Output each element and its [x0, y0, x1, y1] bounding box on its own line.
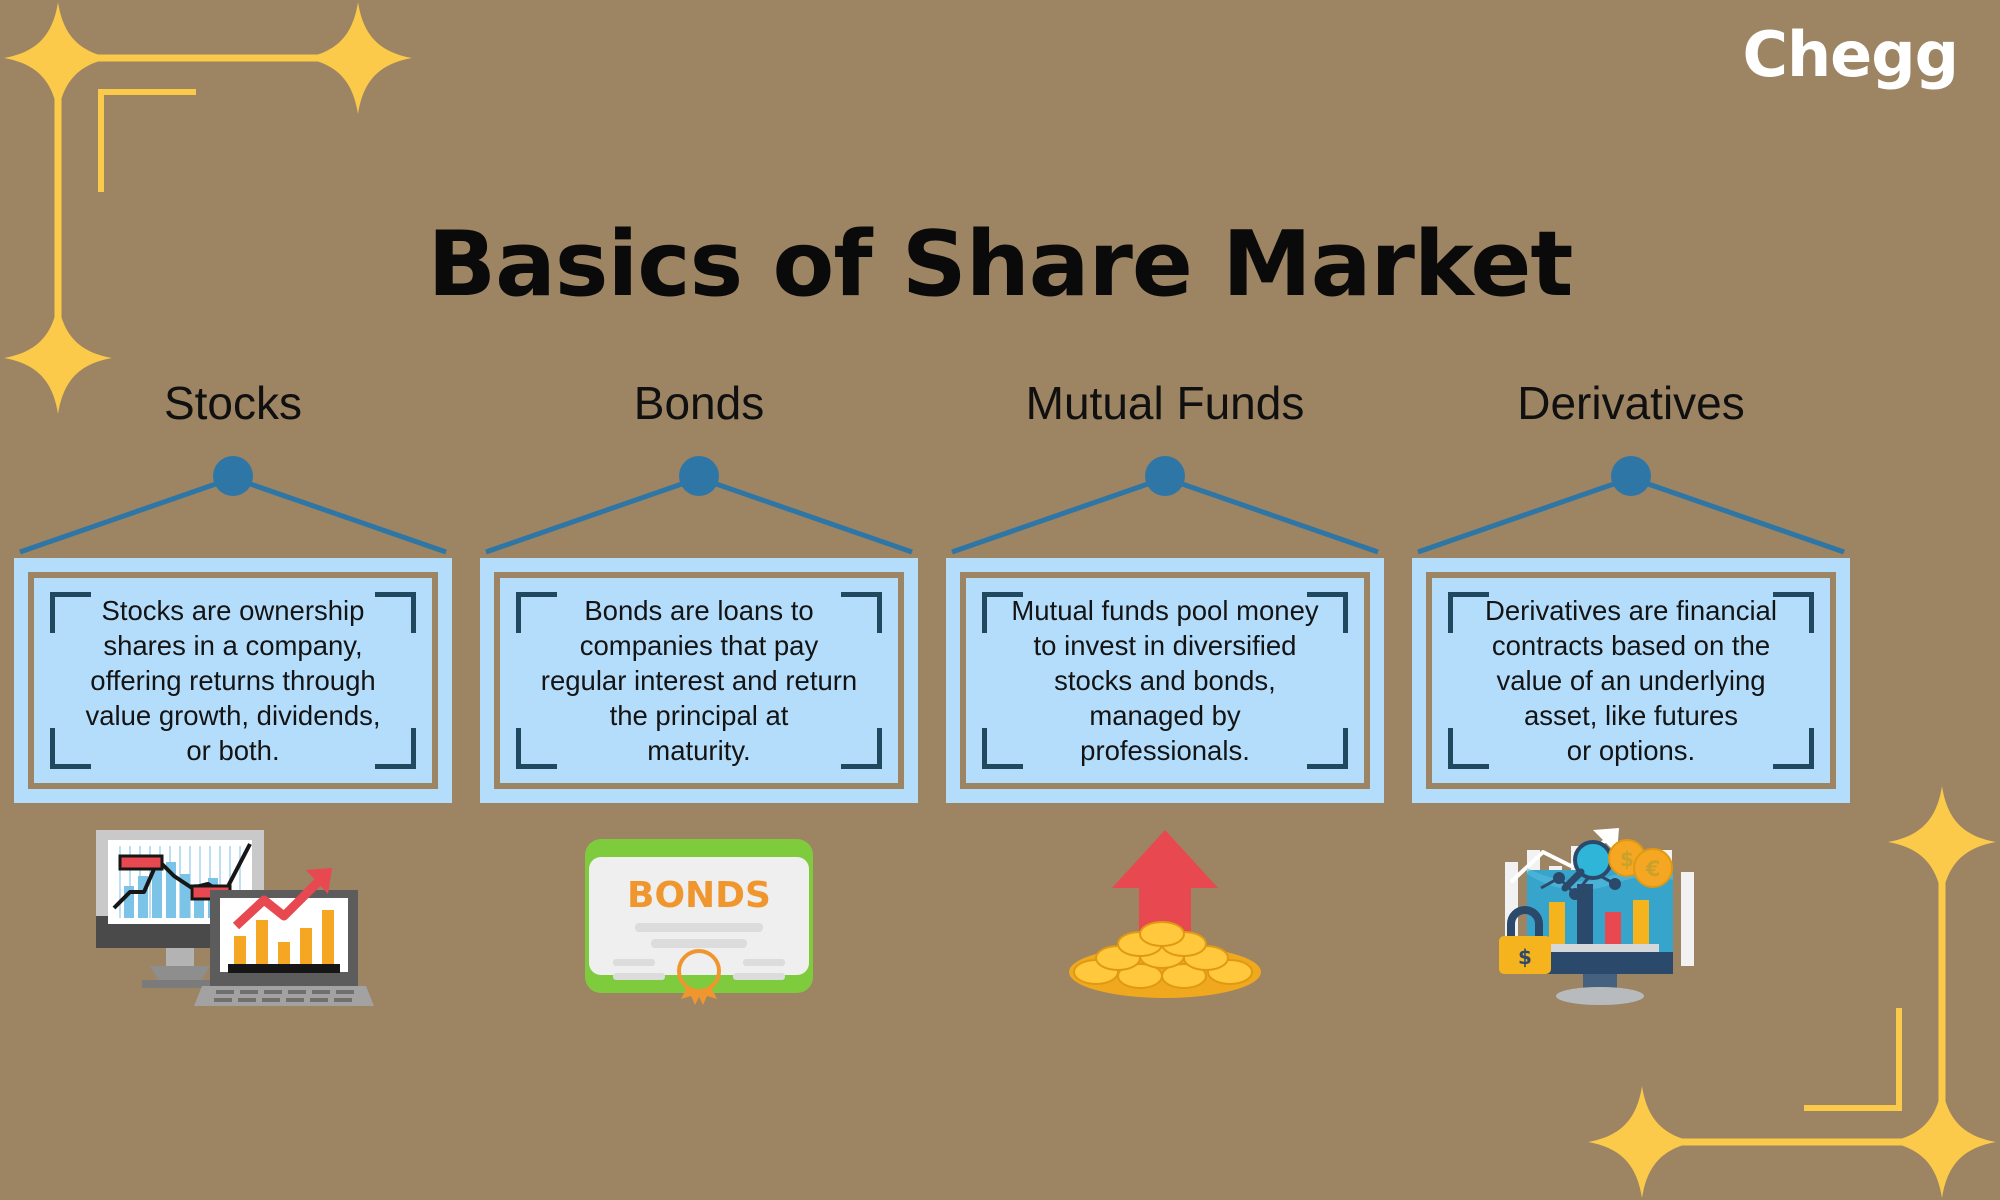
sparkle-icon	[304, 2, 412, 114]
connector-derivatives	[1410, 454, 1852, 559]
connector-stocks	[12, 454, 454, 559]
connector-mutual-funds	[944, 454, 1386, 559]
decor-corner-top-left	[0, 0, 420, 420]
topic-column-mutual-funds: Mutual Funds Mutual funds pool money to …	[932, 380, 1398, 1020]
page-title: Basics of Share Market	[0, 220, 2000, 310]
svg-text:€: €	[1645, 857, 1661, 881]
connector-bonds	[478, 454, 920, 559]
infographic-canvas: Chegg Basics of Share Market Stocks	[0, 0, 2000, 1200]
illustration-monitor-analytics-lock-coins: $ € $	[1481, 821, 1781, 1011]
node-dot-icon	[213, 456, 253, 496]
topic-columns: Stocks Stocks are ownership shares in a …	[0, 380, 2000, 1020]
topic-body-derivatives: Derivatives are financial contracts base…	[1459, 593, 1803, 769]
chegg-logo: Chegg	[1743, 24, 1958, 86]
coin-stack-icon	[1069, 922, 1261, 998]
topic-card-mutual-funds: Mutual funds pool money to invest in div…	[946, 558, 1384, 803]
topic-heading-bonds: Bonds	[634, 380, 764, 432]
topic-card-derivatives: Derivatives are financial contracts base…	[1412, 558, 1850, 803]
node-dot-icon	[679, 456, 719, 496]
illustration-coins-up-arrow	[1015, 821, 1315, 1011]
illustration-monitor-laptop-charts	[83, 821, 383, 1011]
illustration-bond-certificate: BONDS	[549, 821, 849, 1011]
sparkle-icon	[4, 2, 112, 114]
node-dot-icon	[1145, 456, 1185, 496]
topic-body-bonds: Bonds are loans to companies that pay re…	[515, 593, 883, 769]
topic-column-bonds: Bonds Bonds are loans to companies that …	[466, 380, 932, 1020]
sparkle-icon	[1588, 1086, 1696, 1198]
topic-card-bonds: Bonds are loans to companies that pay re…	[480, 558, 918, 803]
svg-text:$: $	[1518, 945, 1532, 969]
topic-heading-stocks: Stocks	[164, 380, 302, 432]
bonds-certificate-label: BONDS	[627, 875, 771, 916]
topic-card-stocks: Stocks are ownership shares in a company…	[14, 558, 452, 803]
svg-text:$: $	[1620, 847, 1634, 871]
coin-euro-icon: €	[1634, 849, 1672, 887]
topic-column-derivatives: Derivatives Derivatives are financial co…	[1398, 380, 1864, 1020]
topic-heading-derivatives: Derivatives	[1517, 380, 1745, 432]
node-dot-icon	[1611, 456, 1651, 496]
topic-column-stocks: Stocks Stocks are ownership shares in a …	[0, 380, 466, 1020]
topic-heading-mutual-funds: Mutual Funds	[1026, 380, 1305, 432]
topic-body-mutual-funds: Mutual funds pool money to invest in div…	[985, 593, 1344, 769]
sparkle-icon	[1888, 1086, 1996, 1198]
topic-body-stocks: Stocks are ownership shares in a company…	[59, 593, 406, 769]
